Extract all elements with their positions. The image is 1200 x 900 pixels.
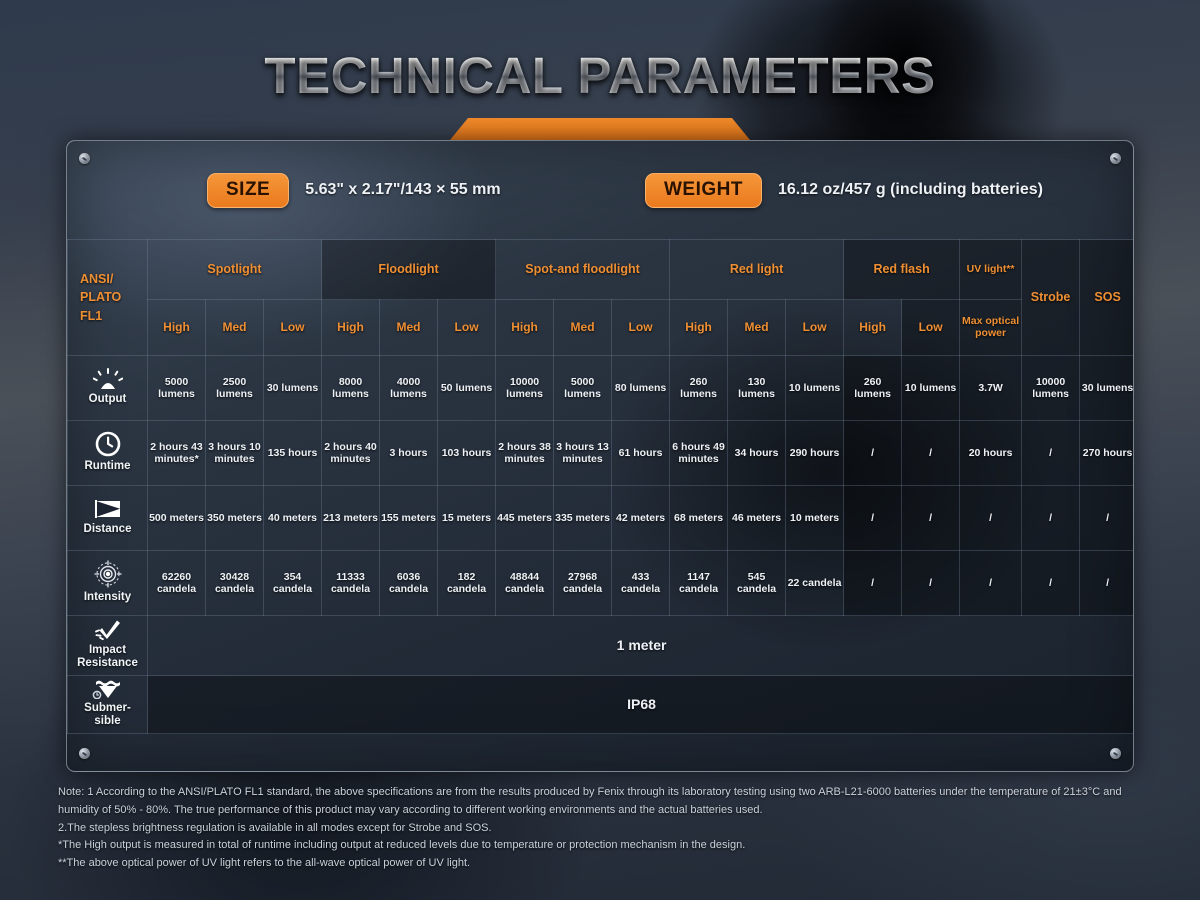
cell: 260 lumens bbox=[844, 356, 902, 421]
weight-label-pill: WEIGHT bbox=[645, 173, 762, 208]
group-header-uv-light: UV light** bbox=[960, 240, 1022, 300]
footnote-4: **The above optical power of UV light re… bbox=[58, 855, 1158, 873]
cell: 27968 candela bbox=[554, 551, 612, 616]
cell: 62260 candela bbox=[148, 551, 206, 616]
cell: 2 hours 40 minutes bbox=[322, 421, 380, 486]
size-group: SIZE 5.63" x 2.17"/143 × 55 mm bbox=[207, 173, 501, 208]
cell: / bbox=[960, 486, 1022, 551]
page-title: TECHNICAL PARAMETERS bbox=[264, 46, 935, 105]
cell: 5000 lumens bbox=[554, 356, 612, 421]
row-label-distance: Distance bbox=[68, 486, 148, 551]
table-row: Intensity 62260 candela 30428 candela 35… bbox=[68, 551, 1135, 616]
cell: 2 hours 43 minutes* bbox=[148, 421, 206, 486]
cell: 500 meters bbox=[148, 486, 206, 551]
cell: 155 meters bbox=[380, 486, 438, 551]
group-header-red-light: Red light bbox=[670, 240, 844, 300]
table-row: Distance 500 meters 350 meters 40 meters… bbox=[68, 486, 1135, 551]
cell: 34 hours bbox=[728, 421, 786, 486]
footnotes: Note: 1 According to the ANSI/PLATO FL1 … bbox=[58, 784, 1158, 873]
cell: 290 hours bbox=[786, 421, 844, 486]
cell: / bbox=[1022, 421, 1080, 486]
clock-icon bbox=[95, 431, 121, 457]
level-header-12: High bbox=[844, 300, 902, 356]
orange-tab-accent bbox=[450, 118, 750, 140]
impact-resistance-value: 1 meter bbox=[148, 616, 1135, 676]
cell: / bbox=[844, 486, 902, 551]
cell: 3 hours 10 minutes bbox=[206, 421, 264, 486]
cell: 22 candela bbox=[786, 551, 844, 616]
weight-value: 16.12 oz/457 g (including batteries) bbox=[778, 181, 1043, 199]
cell: / bbox=[844, 551, 902, 616]
cell: 445 meters bbox=[496, 486, 554, 551]
target-icon bbox=[94, 560, 122, 588]
row-label-intensity: Intensity bbox=[68, 551, 148, 616]
cell: 30 lumens bbox=[1080, 356, 1134, 421]
row-label-line-2: Resistance bbox=[69, 657, 146, 670]
cell: 4000 lumens bbox=[380, 356, 438, 421]
table-body: Output 5000 lumens 2500 lumens 30 lumens… bbox=[68, 356, 1135, 734]
specifications-table: ANSI/ PLATO FL1 Spotlight Floodlight Spo… bbox=[67, 239, 1134, 734]
group-header-spotlight: Spotlight bbox=[148, 240, 322, 300]
cell: 61 hours bbox=[612, 421, 670, 486]
row-label-output: Output bbox=[68, 356, 148, 421]
level-header-1: Med bbox=[206, 300, 264, 356]
cell: 335 meters bbox=[554, 486, 612, 551]
table-row: Submer- sible IP68 bbox=[68, 676, 1135, 734]
table-row: Impact Resistance 1 meter bbox=[68, 616, 1135, 676]
submersible-value: IP68 bbox=[148, 676, 1135, 734]
level-header-3: High bbox=[322, 300, 380, 356]
cell: 11333 candela bbox=[322, 551, 380, 616]
cell: 354 candela bbox=[264, 551, 322, 616]
cell: 2 hours 38 minutes bbox=[496, 421, 554, 486]
cell: / bbox=[902, 421, 960, 486]
level-header-9: High bbox=[670, 300, 728, 356]
row-label-line-1: Impact bbox=[69, 644, 146, 657]
weight-group: WEIGHT 16.12 oz/457 g (including batteri… bbox=[645, 173, 1043, 208]
cell: 213 meters bbox=[322, 486, 380, 551]
level-header-11: Low bbox=[786, 300, 844, 356]
cell: / bbox=[902, 486, 960, 551]
level-header-13: Low bbox=[902, 300, 960, 356]
beam-icon bbox=[93, 498, 123, 520]
impact-check-icon bbox=[93, 619, 123, 641]
cell: / bbox=[1080, 551, 1134, 616]
cell: 10 meters bbox=[786, 486, 844, 551]
group-header-strobe: Strobe bbox=[1022, 240, 1080, 356]
cell: 10 lumens bbox=[786, 356, 844, 421]
level-header-6: High bbox=[496, 300, 554, 356]
corner-line-3: FL1 bbox=[80, 307, 146, 325]
cell: 46 meters bbox=[728, 486, 786, 551]
cell: 433 candela bbox=[612, 551, 670, 616]
cell: / bbox=[1022, 551, 1080, 616]
cell: 42 meters bbox=[612, 486, 670, 551]
cell: 5000 lumens bbox=[148, 356, 206, 421]
size-value: 5.63" x 2.17"/143 × 55 mm bbox=[305, 181, 500, 199]
group-header-spot-and-floodlight: Spot-and floodlight bbox=[496, 240, 670, 300]
footnote-3: *The High output is measured in total of… bbox=[58, 837, 1158, 855]
corner-line-1: ANSI/ bbox=[80, 270, 146, 288]
cell: 3 hours 13 minutes bbox=[554, 421, 612, 486]
row-label-text: Distance bbox=[84, 523, 132, 535]
corner-line-2: PLATO bbox=[80, 288, 146, 306]
cell: / bbox=[1022, 486, 1080, 551]
cell: 30428 candela bbox=[206, 551, 264, 616]
row-label-runtime: Runtime bbox=[68, 421, 148, 486]
cell: 135 hours bbox=[264, 421, 322, 486]
cell: 40 meters bbox=[264, 486, 322, 551]
row-label-line-2: sible bbox=[69, 715, 146, 728]
cell: 3.7W bbox=[960, 356, 1022, 421]
cell: 10 lumens bbox=[902, 356, 960, 421]
row-label-impact-resistance: Impact Resistance bbox=[68, 616, 148, 676]
cell: 10000 lumens bbox=[1022, 356, 1080, 421]
table-head: ANSI/ PLATO FL1 Spotlight Floodlight Spo… bbox=[68, 240, 1135, 356]
cell: / bbox=[902, 551, 960, 616]
specs-panel: SIZE 5.63" x 2.17"/143 × 55 mm WEIGHT 16… bbox=[66, 140, 1134, 772]
cell: 2500 lumens bbox=[206, 356, 264, 421]
group-header-red-flash: Red flash bbox=[844, 240, 960, 300]
cell: 350 meters bbox=[206, 486, 264, 551]
cell: 6 hours 49 minutes bbox=[670, 421, 728, 486]
table-row: Output 5000 lumens 2500 lumens 30 lumens… bbox=[68, 356, 1135, 421]
level-header-8: Low bbox=[612, 300, 670, 356]
cell: 8000 lumens bbox=[322, 356, 380, 421]
corner-standard-label: ANSI/ PLATO FL1 bbox=[68, 240, 148, 356]
cell: 182 candela bbox=[438, 551, 496, 616]
group-header-row: ANSI/ PLATO FL1 Spotlight Floodlight Spo… bbox=[68, 240, 1135, 300]
level-header-max-optical-power: Max optical power bbox=[960, 300, 1022, 356]
cell: 68 meters bbox=[670, 486, 728, 551]
cell: 103 hours bbox=[438, 421, 496, 486]
footnote-1: Note: 1 According to the ANSI/PLATO FL1 … bbox=[58, 784, 1158, 820]
row-label-submersible: Submer- sible bbox=[68, 676, 148, 734]
level-header-0: High bbox=[148, 300, 206, 356]
cell: 10000 lumens bbox=[496, 356, 554, 421]
row-label-text: Intensity bbox=[84, 591, 131, 603]
screw-icon bbox=[79, 748, 90, 759]
level-header-7: Med bbox=[554, 300, 612, 356]
row-label-text: Output bbox=[89, 393, 127, 405]
cell: / bbox=[960, 551, 1022, 616]
table-row: Runtime 2 hours 43 minutes* 3 hours 10 m… bbox=[68, 421, 1135, 486]
cell: 3 hours bbox=[380, 421, 438, 486]
cell: 48844 candela bbox=[496, 551, 554, 616]
cell: 80 lumens bbox=[612, 356, 670, 421]
cell: / bbox=[844, 421, 902, 486]
sun-rays-icon bbox=[93, 368, 123, 390]
level-header-4: Med bbox=[380, 300, 438, 356]
cell: 1147 candela bbox=[670, 551, 728, 616]
size-weight-row: SIZE 5.63" x 2.17"/143 × 55 mm WEIGHT 16… bbox=[67, 141, 1133, 239]
cell: 15 meters bbox=[438, 486, 496, 551]
page-title-container: TECHNICAL PARAMETERS bbox=[0, 46, 1200, 105]
cell: 545 candela bbox=[728, 551, 786, 616]
cell: / bbox=[1080, 486, 1134, 551]
cell: 20 hours bbox=[960, 421, 1022, 486]
cell: 270 hours bbox=[1080, 421, 1134, 486]
row-label-text: Runtime bbox=[85, 460, 131, 472]
screw-icon bbox=[1110, 748, 1121, 759]
cell: 30 lumens bbox=[264, 356, 322, 421]
level-header-row: High Med Low High Med Low High Med Low H… bbox=[68, 300, 1135, 356]
size-label-pill: SIZE bbox=[207, 173, 289, 208]
group-header-floodlight: Floodlight bbox=[322, 240, 496, 300]
group-header-sos: SOS bbox=[1080, 240, 1134, 356]
level-header-10: Med bbox=[728, 300, 786, 356]
cell: 6036 candela bbox=[380, 551, 438, 616]
water-drop-icon bbox=[92, 679, 124, 699]
footnote-2: 2.The stepless brightness regulation is … bbox=[58, 820, 1158, 838]
level-header-5: Low bbox=[438, 300, 496, 356]
cell: 260 lumens bbox=[670, 356, 728, 421]
row-label-line-1: Submer- bbox=[69, 702, 146, 715]
cell: 130 lumens bbox=[728, 356, 786, 421]
cell: 50 lumens bbox=[438, 356, 496, 421]
level-header-2: Low bbox=[264, 300, 322, 356]
